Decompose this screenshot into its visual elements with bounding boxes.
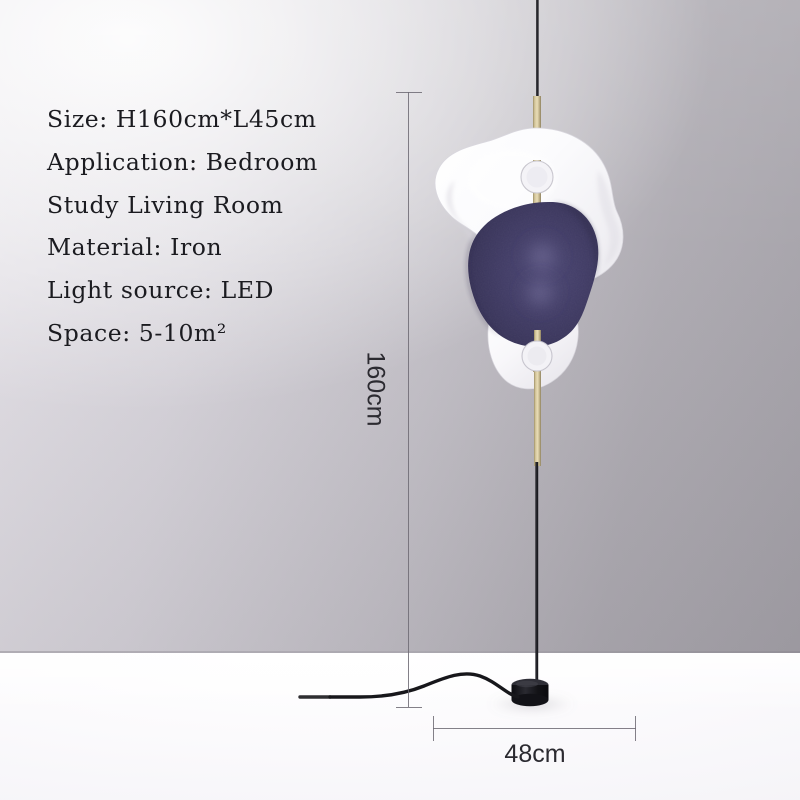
spec-line-material: Material: Iron [47, 226, 387, 269]
spec-line-size: Size: H160cm*L45cm [47, 98, 387, 141]
height-dimension-tick-top [396, 92, 422, 93]
spec-line-application: Application: Bedroom [47, 141, 387, 184]
height-dimension-line [408, 92, 409, 707]
spec-line-light-source: Light source: LED [47, 269, 387, 312]
width-dimension-label: 48cm [460, 740, 610, 769]
height-dimension-label: 160cm [361, 352, 390, 414]
floor-sheen [0, 653, 800, 713]
width-dimension-tick-left [433, 716, 434, 741]
spec-line-space: Space: 5-10m² [47, 312, 387, 355]
width-dimension-tick-right [635, 716, 636, 741]
spec-line-application-cont: Study Living Room [47, 184, 387, 226]
height-dimension-tick-bottom [396, 707, 422, 708]
specification-text-block: Size: H160cm*L45cm Application: Bedroom … [47, 98, 387, 355]
width-dimension-line [433, 728, 636, 729]
product-image-canvas: Size: H160cm*L45cm Application: Bedroom … [0, 0, 800, 800]
